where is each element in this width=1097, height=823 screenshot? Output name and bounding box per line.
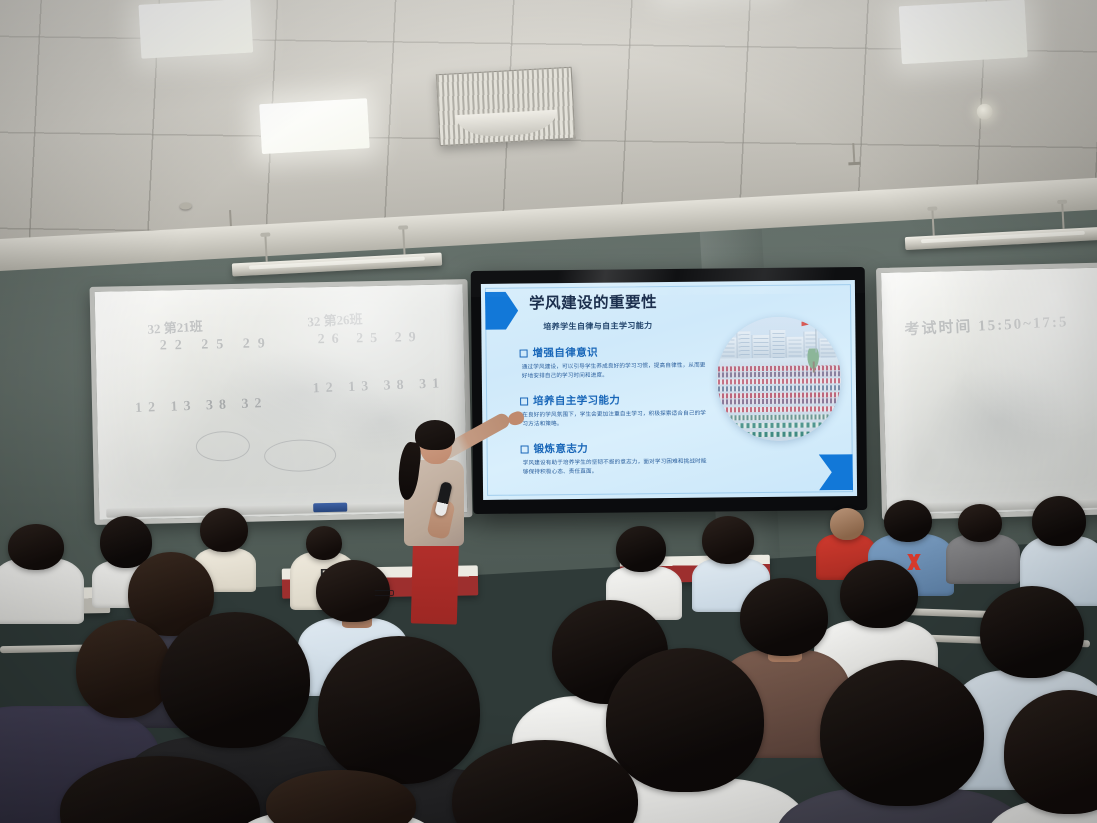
whiteboard-sketch [196, 431, 251, 462]
lecture-hall-photo: 32 第21班 22 25 29 12 13 38 32 32 第26班 26 … [0, 0, 1097, 823]
person-head [616, 526, 666, 572]
photo-tint [716, 316, 841, 441]
slide-title: 学风建设的重要性 [529, 294, 657, 313]
person-head [8, 524, 64, 570]
slide-photo [716, 316, 841, 441]
whiteboard-marker [313, 503, 347, 513]
slide-bullet-list: 增强自律意识 通过学风建设，可以引导学生养成良好的学习习惯，提高自律性，从而更好… [520, 344, 708, 490]
person-head [740, 578, 828, 656]
person-head [980, 586, 1084, 678]
wall-mounted-display[interactable]: 学风建设的重要性 培养学生自律与自主学习能力 增强自律意识 通过学风建设，可以引… [471, 267, 868, 514]
checkbox-icon [521, 445, 529, 453]
ceiling-panel-light [138, 0, 253, 59]
bullet-body: 通过学风建设，可以引导学生养成良好的学习习惯，提高自律性，从而更好地安排自己的学… [522, 362, 706, 382]
whiteboard-sketch [264, 439, 337, 473]
ceiling-air-vent [436, 67, 576, 146]
whiteboard-smudge [923, 363, 1076, 477]
whiteboard-note: 考试时间 15:50~17:5 [904, 310, 1069, 339]
person-head [702, 516, 754, 564]
bullet-heading: 锻炼意志力 [534, 441, 589, 457]
bullet-heading-row: 增强自律意识 [520, 344, 706, 361]
person-head [958, 504, 1002, 542]
vent-diffuser [455, 109, 558, 138]
slide-subtitle: 培养学生自律与自主学习能力 [543, 320, 652, 332]
person-head [830, 508, 864, 540]
checkbox-icon [520, 397, 528, 405]
presentation-slide: 学风建设的重要性 培养学生自律与自主学习能力 增强自律意识 通过学风建设，可以引… [481, 280, 857, 500]
bullet-body: 在良好的学风氛围下，学生会更加注重自主学习，积极探索适合自己的学习方法和策略。 [522, 410, 706, 430]
ceiling-panel-light [899, 0, 1028, 64]
slide-bullet-item: 增强自律意识 通过学风建设，可以引导学生养成良好的学习习惯，提高自律性，从而更好… [520, 344, 706, 382]
slide-bullet-item: 锻炼意志力 学风建设有助于培养学生的坚韧不拔的意志力，面对学习困难和挑战时能够保… [521, 440, 707, 478]
bullet-heading: 增强自律意识 [533, 345, 599, 361]
whiteboard-note: 32 第26班 [307, 308, 363, 330]
bullet-heading-row: 培养自主学习能力 [520, 392, 706, 409]
person-head [1032, 496, 1086, 546]
person-head [76, 620, 172, 718]
person-head [306, 526, 342, 560]
person-head [820, 660, 984, 806]
person-head [884, 500, 932, 542]
presenter-hair [415, 420, 455, 450]
slide-bullet-item: 培养自主学习能力 在良好的学风氛围下，学生会更加注重自主学习，积极探索适合自己的… [520, 392, 706, 430]
whiteboard-note: 26 25 29 [318, 330, 423, 348]
presenter [368, 404, 518, 634]
bullet-heading: 培养自主学习能力 [533, 393, 620, 409]
person-head [200, 508, 248, 552]
bullet-body: 学风建设有助于培养学生的坚韧不拔的意志力，面对学习困难和挑战时能够保持积极心态、… [523, 458, 707, 478]
whiteboard-note: 32 第21班 [147, 316, 203, 338]
person-head [160, 612, 310, 748]
person-head [318, 636, 480, 784]
checkbox-icon [520, 349, 528, 357]
whiteboard-note: 22 25 29 [160, 336, 273, 354]
person-head [840, 560, 918, 628]
ceiling-panel-light [259, 98, 370, 154]
whiteboard-right: 考试时间 15:50~17:5 [876, 262, 1097, 520]
person-head [606, 648, 764, 792]
bullet-heading-row: 锻炼意志力 [521, 440, 707, 457]
